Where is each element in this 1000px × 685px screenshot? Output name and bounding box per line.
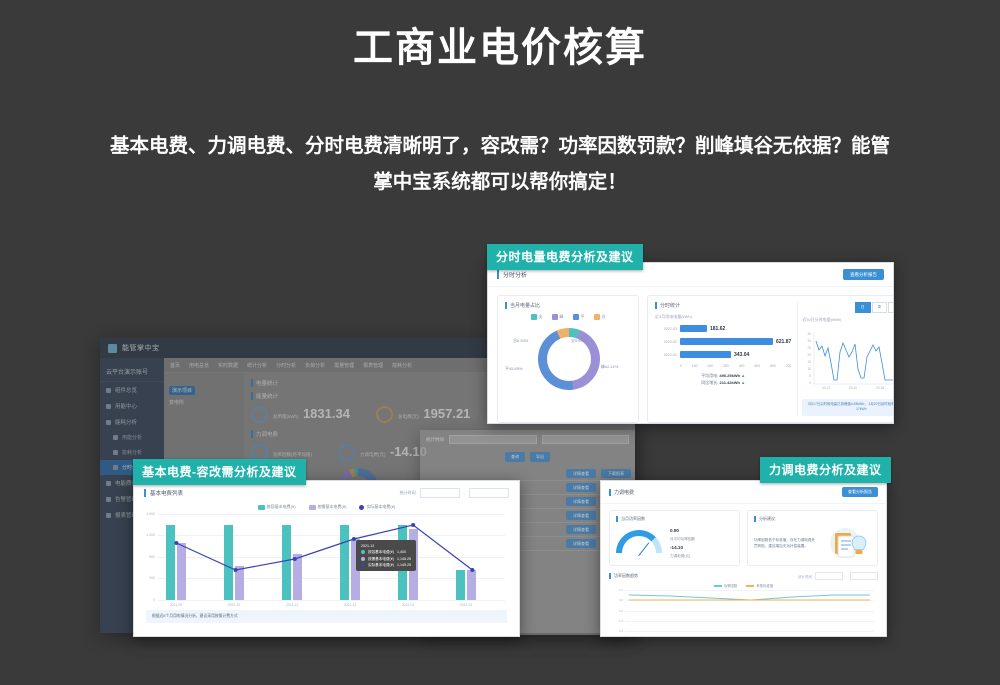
range-dash: -	[464, 491, 465, 496]
bar-row: 2022-02 621.87	[655, 338, 791, 345]
date-filter[interactable]: 统计时间 -	[798, 572, 878, 580]
badge-jiben: 基本电费-容改需分析及建议	[133, 459, 306, 485]
kpi-label: 总用量(kWh)	[273, 414, 299, 419]
date-from-input[interactable]	[815, 572, 843, 580]
badge-litiao: 力调电费分析及建议	[760, 457, 891, 483]
energy-share-card: 当月电量占比 尖 峰 平 谷 尖5.69% 峰42.11% 平45.65% 谷6…	[497, 295, 639, 423]
shiduan-stats-card: 分时统计 近3月用电电量(kWh) 2022-03 181.62 2022-02…	[647, 295, 894, 423]
legend-swatch-rongliang	[258, 505, 265, 510]
sidebar-item-label: 用能中心	[115, 402, 137, 410]
bar-category: 2022-03	[655, 327, 677, 331]
totals-block: 平均用电: 490.25kWh ▲ 同比增长: 211.42kWh ▲	[655, 373, 791, 387]
menu-icon	[106, 497, 111, 502]
view-report-button[interactable]: 查看分析报告	[843, 269, 884, 280]
donut-label-gu: 谷6.53%	[513, 338, 528, 344]
range-dash: -	[846, 574, 847, 578]
total-label: 平均用电	[701, 373, 717, 378]
advice-card: 分析建议 功率因数低于标准值，存在力调电费处罚风险，建议增加无功补偿装置。	[747, 510, 878, 566]
daily-line-chart: 日 周 月 年 近30日分时电量(kWh) 35 30	[797, 302, 894, 416]
detail-button[interactable]: 详情查看	[566, 497, 596, 506]
nav-tab[interactable]: 统计分析	[247, 362, 267, 369]
y-tick: 1,600	[147, 512, 156, 516]
card-title: 分时统计	[655, 302, 791, 309]
legend-swatch-ping	[573, 314, 579, 320]
x-tick: 200	[707, 364, 713, 368]
y-tick: 0.2	[619, 629, 623, 633]
badge-shiduan: 分时电量电费分析及建议	[487, 244, 643, 270]
legend-label: 谷	[602, 314, 606, 320]
x-tick: 500	[754, 364, 760, 368]
menu-icon	[106, 404, 111, 409]
sidebar-item-label: 能耗分析	[122, 449, 142, 456]
bar-value: 343.04	[734, 352, 749, 358]
toggle-week[interactable]: 周	[872, 302, 888, 313]
account-label: 云平台演示账号	[100, 362, 164, 382]
legend-swatch-xuliang	[309, 505, 316, 510]
x-tick: 400	[739, 364, 745, 368]
insight-note: 3月17日尖时段电量达到峰值4.68kWh； 3月20日谷时段电量达到最小值17…	[802, 399, 894, 416]
svg-text:03-13: 03-13	[822, 386, 830, 390]
gauge-values: 0.90 月平均功率因数 -14.10 力调电费(元)	[670, 526, 695, 560]
detail-button[interactable]: 详情查看	[566, 469, 596, 478]
filter-label: 统计时间	[426, 437, 444, 443]
footer-note: 根据近6个月用电情况分析，建议采用按需计费方式	[146, 610, 507, 623]
donut-ring	[538, 328, 600, 390]
svg-text:03-26: 03-26	[876, 386, 884, 390]
sidebar-item[interactable]: 能耗分析	[100, 414, 164, 430]
trend-legend[interactable]: 功率因数 考核标准值	[609, 583, 878, 588]
bar-category: 2022-01	[655, 353, 677, 357]
kpi-card: 总用量(kWh) 1831.34	[251, 405, 350, 423]
menu-icon	[106, 388, 111, 393]
legend-item: 峰	[552, 314, 564, 320]
trend-up-icon: ▲	[741, 373, 745, 378]
kpi-label: 功率因数(月平均值)	[273, 452, 312, 457]
menu-icon	[113, 450, 118, 455]
chart-tooltip: 2021-12 按容基本电费(¥)1,400 按需基本电费(¥)1,145.25…	[356, 540, 416, 571]
power-factor-label: 月平均功率因数	[670, 537, 695, 541]
power-factor-trend: 功率因数趋势 统计时间 - 功率因数 考核标准值 1.0 0.8 0.6 0.4…	[601, 572, 886, 637]
kpi-label: 总电费(元)	[398, 414, 419, 419]
sidebar-item[interactable]: 用能中心	[100, 398, 164, 414]
toggle-month[interactable]: 月	[888, 302, 894, 313]
panel-title: 分时分析	[497, 270, 527, 279]
legend-swatch-shiji	[359, 505, 364, 510]
svg-text:5: 5	[810, 374, 812, 378]
y-tick: 1.0	[619, 588, 623, 592]
shiduan-analysis-screenshot[interactable]: 分时分析 查看分析报告 当月电量占比 尖 峰 平 谷 尖5.69% 峰42.11…	[487, 262, 894, 424]
bar-fill	[680, 351, 731, 358]
export-button[interactable]: 导出	[530, 452, 550, 462]
legend-item: 功率因数	[714, 583, 738, 588]
bar-value: 621.87	[776, 339, 791, 345]
legend-label: 考核标准值	[756, 583, 773, 588]
svg-text:30: 30	[808, 339, 812, 343]
filter-row[interactable]: 统计时间	[420, 430, 635, 449]
menu-icon	[106, 420, 111, 425]
legend-label: 功率因数	[724, 583, 738, 588]
nav-tab[interactable]: 首页	[170, 362, 180, 369]
sidebar-item-label: 组件总览	[115, 386, 137, 394]
card-title: 当月功率因数	[616, 516, 733, 522]
actual-fee-line	[158, 514, 505, 600]
donut-chart: 尖5.69% 峰42.11% 平45.65% 谷6.53%	[505, 324, 631, 402]
menu-icon	[106, 513, 111, 518]
nav-tab[interactable]: 负荷分析	[305, 362, 325, 369]
bar-row: 2022-03 181.62	[655, 325, 791, 332]
y-tick: 0.6	[619, 609, 623, 613]
donut-label-ping: 平45.65%	[505, 366, 523, 372]
kpi-card: 总电费(元) 1957.21	[376, 405, 470, 423]
litiao-icon	[338, 444, 355, 461]
page-subtitle: 基本电费、力调电费、分时电费清晰明了，容改需？功率因数罚款？削峰填谷无依据？能管…	[110, 128, 890, 200]
bar-fill	[680, 325, 707, 332]
legend-swatch-feng	[552, 314, 558, 320]
bar-fill	[680, 338, 773, 345]
x-tick: 300	[723, 364, 729, 368]
donut-label-feng: 峰42.11%	[601, 364, 618, 370]
y-tick: 400	[149, 576, 155, 580]
legend-label: 实际基本电费(¥)	[366, 504, 395, 510]
tooltip-value: 1,145.25	[397, 562, 411, 568]
tooltip-label: 实际基本电费(¥)	[368, 562, 394, 568]
legend-item: 考核标准值	[746, 583, 773, 588]
power-factor-card: 当月功率因数 0.90 月平均功率因数 -14.10 力调电费(元)	[609, 510, 740, 566]
nav-tab[interactable]: 用电总览	[189, 362, 209, 369]
trend-plot: 1.0 0.8 0.6 0.4 0.2 0 2021-09 2021-10 20…	[625, 590, 874, 637]
legend-label: 平	[581, 314, 585, 320]
tooltip-row: 实际基本电费(¥)1,145.25	[361, 562, 411, 568]
x-tick: 2021-12	[344, 603, 356, 607]
svg-text:35: 35	[808, 332, 812, 336]
legend-item: 平	[573, 314, 585, 320]
tree-node[interactable]: 变电所	[169, 399, 239, 406]
line-chart-title: 近30日分时电量(kWh)	[802, 317, 894, 323]
y-tick: 0.4	[619, 619, 623, 623]
poster-stage: 工商业电价核算 基本电费、力调电费、分时电费清晰明了，容改需？功率因数罚款？削峰…	[0, 0, 1000, 685]
detail-button[interactable]: 详情查看	[566, 483, 596, 492]
query-button[interactable]: 查询	[505, 452, 525, 462]
advice-text: 功率因数低于标准值，存在力调电费处罚风险，建议增加无功补偿装置。	[754, 537, 817, 550]
detail-button[interactable]: 详情查看	[566, 525, 596, 534]
app-logo-icon	[108, 344, 117, 353]
fee-icon	[376, 406, 393, 423]
date-to-input[interactable]	[469, 488, 509, 498]
legend-swatch-jian	[531, 314, 537, 320]
nav-tab[interactable]: 需量管理	[334, 362, 354, 369]
trend-lines	[625, 590, 874, 637]
svg-text:20: 20	[808, 353, 812, 357]
legend-item: 按需基本电费(¥)	[309, 504, 347, 510]
total-label: 同比增长	[701, 380, 717, 385]
legend-item: 按容基本电费(¥)	[258, 504, 296, 510]
energy-icon	[251, 406, 268, 423]
svg-text:10: 10	[808, 367, 812, 371]
svg-text:0: 0	[810, 381, 812, 385]
y-tick: 0.8	[619, 598, 623, 602]
date-from-input[interactable]	[449, 435, 537, 444]
x-tick: 2021-09	[170, 603, 182, 607]
table-row[interactable]: 详情查看下载报表	[420, 467, 635, 481]
svg-text:25: 25	[808, 346, 812, 350]
legend-swatch-pf	[714, 585, 722, 587]
power-factor-value: 0.90	[670, 526, 695, 536]
menu-icon	[113, 465, 118, 470]
view-report-button[interactable]: 查看分析报告	[842, 487, 878, 497]
donut-legend: 尖 峰 平 谷	[505, 314, 631, 320]
x-tick: 2022-01	[402, 603, 414, 607]
date-filter[interactable]: 统计时间 -	[400, 488, 509, 498]
legend-swatch-gu	[594, 314, 600, 320]
date-from-input[interactable]	[420, 488, 460, 498]
sidebar-item[interactable]: 组件总览	[100, 382, 164, 398]
sidebar-item-label: 用能分析	[122, 434, 142, 441]
jiben-chart-plot: 1,600 1,200 800 400 0 2021-09 2021-10 2	[158, 514, 505, 600]
litiao-fee-label: 力调电费(元)	[670, 554, 690, 558]
total-value: 211.42kWh	[719, 380, 739, 385]
legend-label: 尖	[539, 314, 543, 320]
bar-category: 2022-02	[655, 340, 677, 344]
svg-text:03-20: 03-20	[849, 386, 857, 390]
legend-label: 峰	[560, 314, 564, 320]
legend-item: 实际基本电费(¥)	[359, 504, 395, 510]
chart-title: 功率因数趋势	[609, 573, 638, 579]
sidebar-item[interactable]: 能耗分析	[100, 445, 164, 460]
gauge-icon	[616, 530, 662, 556]
sidebar-item[interactable]: 用能分析	[100, 430, 164, 445]
kpi-value: 1831.34	[303, 406, 350, 421]
litiao-dianfei-screenshot[interactable]: 力调电费 查看分析报告 当月功率因数 0.90 月平均功率因数 -14.10 力…	[600, 480, 887, 637]
panel-title: 力调电费	[609, 489, 634, 496]
x-tick: 2022-02	[460, 603, 472, 607]
y-tick: 0	[153, 598, 155, 602]
kpi-value: 1957.21	[423, 406, 470, 421]
y-tick: 800	[149, 555, 155, 559]
legend-label: 按需基本电费(¥)	[318, 504, 347, 510]
date-to-input[interactable]	[850, 572, 878, 580]
download-button[interactable]: 下载报表	[601, 469, 631, 478]
nav-tab[interactable]: 分时分析	[276, 362, 296, 369]
bar-row: 2022-01 343.04	[655, 351, 791, 358]
period-toggle[interactable]: 日 周 月 年	[802, 302, 894, 313]
litiao-fee-value: -14.10	[670, 543, 695, 553]
detail-button[interactable]: 详情查看	[566, 539, 596, 548]
bar-value: 181.62	[710, 326, 725, 332]
tree-node-selected[interactable]: 演示项目	[169, 386, 195, 395]
jiben-dianfei-screenshot[interactable]: 基本电费列表 统计时间 - 按容基本电费(¥) 按需基本电费(¥) 实际基本电费…	[133, 480, 520, 637]
sidebar-item-label: 能耗分析	[115, 418, 137, 426]
y-tick: 1,200	[147, 533, 156, 537]
menu-icon	[113, 435, 118, 440]
legend-label: 按容基本电费(¥)	[267, 504, 296, 510]
detail-button[interactable]: 详情查看	[566, 511, 596, 520]
trend-up-icon: ▲	[741, 380, 745, 385]
nav-tab[interactable]: 实时数据	[218, 362, 238, 369]
chart-legend[interactable]: 按容基本电费(¥) 按需基本电费(¥) 实际基本电费(¥)	[134, 502, 519, 514]
x-tick: 600	[770, 364, 776, 368]
monthly-bar-chart: 分时统计 近3月用电电量(kWh) 2022-03 181.62 2022-02…	[655, 302, 797, 416]
toggle-day[interactable]: 日	[855, 302, 871, 313]
app-logo-text: 能管掌中宝	[122, 343, 160, 353]
nav-tab[interactable]: 能耗分析	[392, 362, 412, 369]
x-tick: 100	[692, 364, 698, 368]
power-factor-icon	[251, 444, 268, 461]
page-title: 工商业电价核算	[0, 24, 1000, 72]
kpi-card: 力调电费(元) -14.10	[338, 443, 427, 461]
x-tick: 2021-10	[228, 603, 240, 607]
panel-title: 基本电费列表	[144, 489, 183, 497]
bar-x-axis: 0 100 200 300 400 500 600 700	[680, 364, 791, 368]
nav-tab[interactable]: 报表管理	[363, 362, 383, 369]
legend-item: 尖	[531, 314, 543, 320]
bar-chart-title: 近3月用电电量(kWh)	[655, 314, 791, 320]
legend-swatch-standard	[746, 585, 754, 587]
donut-label-jian: 尖5.69%	[571, 338, 586, 344]
menu-icon	[106, 481, 111, 486]
total-value: 490.25kWh	[719, 373, 740, 378]
legend-item: 谷	[594, 314, 606, 320]
date-to-input[interactable]	[542, 435, 630, 444]
card-title: 分析建议	[754, 516, 871, 522]
line-chart-svg: 35 30 25 20 15 10 5 0 03-13 03-20 03-26 …	[802, 328, 894, 390]
card-title: 当月电量占比	[505, 302, 631, 309]
x-tick: 2021-11	[286, 603, 298, 607]
filter-label: 统计时间	[400, 490, 416, 496]
x-tick: 700	[786, 364, 792, 368]
document-bulb-icon	[825, 526, 871, 560]
svg-text:15: 15	[808, 360, 812, 364]
kpi-label: 力调电费(元)	[360, 452, 386, 457]
x-tick: 0	[680, 364, 682, 368]
filter-label: 统计时间	[798, 574, 812, 579]
